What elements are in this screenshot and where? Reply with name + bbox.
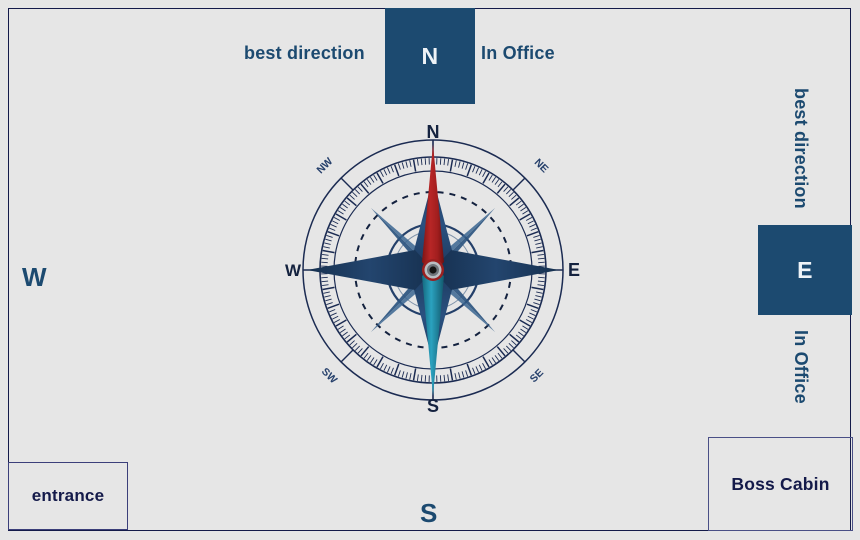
- compass-label-southeast: SE: [528, 367, 546, 385]
- room-entrance-label: entrance: [32, 486, 104, 506]
- annotation-in-office-top: In Office: [481, 43, 555, 64]
- direction-square-north[interactable]: N: [385, 8, 475, 104]
- floor-plan-canvas: entrance Boss Cabin N E best direction I…: [0, 0, 860, 540]
- compass-rose: N S E W NW NE SW SE: [283, 122, 583, 418]
- direction-letter-north: N: [421, 43, 438, 70]
- annotation-best-direction-right: best direction: [790, 88, 811, 209]
- compass-label-northeast: NE: [532, 156, 551, 175]
- annotation-in-office-right: In Office: [790, 330, 811, 404]
- edge-letter-west: W: [22, 262, 47, 293]
- direction-square-east[interactable]: E: [758, 225, 852, 315]
- compass-label-south: S: [427, 396, 439, 416]
- compass-label-northwest: NW: [314, 155, 335, 176]
- room-entrance[interactable]: entrance: [8, 462, 128, 530]
- compass-pivot: [422, 259, 444, 281]
- room-boss-cabin-label: Boss Cabin: [731, 474, 829, 495]
- compass-label-east: E: [568, 260, 580, 280]
- annotation-best-direction-top: best direction: [244, 43, 365, 64]
- compass-label-southwest: SW: [319, 366, 340, 387]
- room-boss-cabin[interactable]: Boss Cabin: [708, 437, 853, 531]
- edge-letter-south: S: [420, 498, 437, 529]
- direction-letter-east: E: [797, 257, 813, 284]
- compass-label-west: W: [285, 261, 302, 280]
- compass-label-north: N: [427, 122, 440, 142]
